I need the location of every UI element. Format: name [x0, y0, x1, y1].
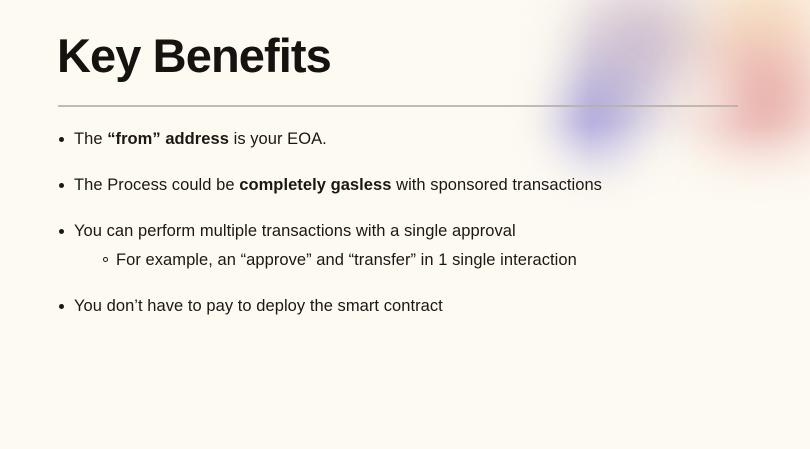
list-item-text: You don’t have to pay to deploy the smar… [74, 296, 758, 317]
page-title: Key Benefits [57, 27, 331, 85]
title-divider [58, 105, 738, 107]
slide-root: Key Benefits The “from” address is your … [0, 0, 810, 449]
list-item: The Process could be completely gasless … [58, 175, 758, 196]
text-segment-bold: completely gasless [239, 176, 391, 194]
list-item: You can perform multiple transactions wi… [58, 221, 758, 271]
list-item-text: The Process could be completely gasless … [74, 175, 758, 196]
blob-highlight-secondary-shape [470, 0, 566, 140]
sub-list-item: For example, an “approve” and “transfer”… [103, 250, 758, 271]
bullet-circle-icon [103, 257, 108, 262]
text-segment: with sponsored transactions [391, 176, 602, 194]
benefits-sublist: For example, an “approve” and “transfer”… [74, 250, 758, 271]
bullet-disc-icon [59, 229, 64, 234]
list-item-text: You can perform multiple transactions wi… [74, 221, 758, 242]
list-item: The “from” address is your EOA. [58, 129, 758, 150]
text-segment: You can perform multiple transactions wi… [74, 222, 516, 240]
sub-list-item-text: For example, an “approve” and “transfer”… [116, 250, 758, 271]
text-segment: is your EOA. [229, 130, 327, 148]
bullet-disc-icon [59, 304, 64, 309]
bullet-disc-icon [59, 137, 64, 142]
list-item-text: The “from” address is your EOA. [74, 129, 758, 150]
bullet-disc-icon [59, 183, 64, 188]
text-segment: You don’t have to pay to deploy the smar… [74, 297, 443, 315]
text-segment: The [74, 130, 107, 148]
text-segment: The Process could be [74, 176, 239, 194]
text-segment-bold: “from” address [107, 130, 229, 148]
blob-mauve-shape [518, 0, 768, 132]
benefits-list: The “from” address is your EOA. The Proc… [58, 129, 758, 317]
list-item: You don’t have to pay to deploy the smar… [58, 296, 758, 317]
